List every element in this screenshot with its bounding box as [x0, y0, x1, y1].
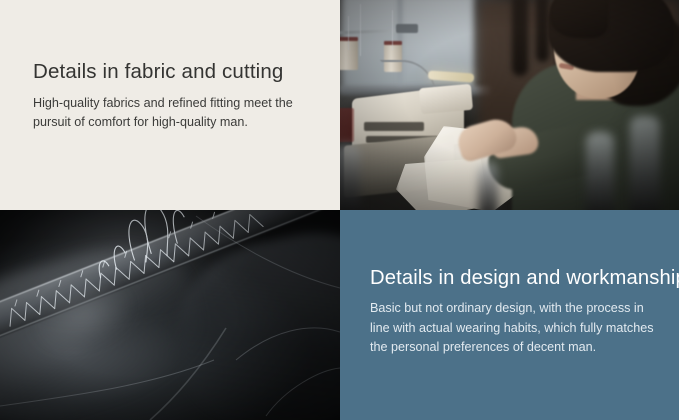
panel-design-title: Details in design and workmanship [370, 266, 667, 290]
panel-design-content: Details in design and workmanship Basic … [370, 266, 667, 358]
panel-design-and-workmanship: Details in design and workmanship Basic … [340, 210, 679, 420]
panel-fabric-title: Details in fabric and cutting [33, 60, 322, 85]
photo-seamstress-workshop [340, 0, 679, 210]
photo-vignette [340, 0, 679, 210]
four-quadrant-feature-layout: Details in fabric and cutting High-quali… [0, 0, 679, 420]
photo-fabric-seam-macro [0, 210, 340, 420]
panel-fabric-and-cutting: Details in fabric and cutting High-quali… [0, 0, 340, 210]
panel-design-body: Basic but not ordinary design, with the … [370, 299, 658, 358]
panel-fabric-content: Details in fabric and cutting High-quali… [33, 60, 322, 133]
photo-vignette [0, 210, 340, 420]
panel-fabric-body: High-quality fabrics and refined fitting… [33, 94, 305, 133]
